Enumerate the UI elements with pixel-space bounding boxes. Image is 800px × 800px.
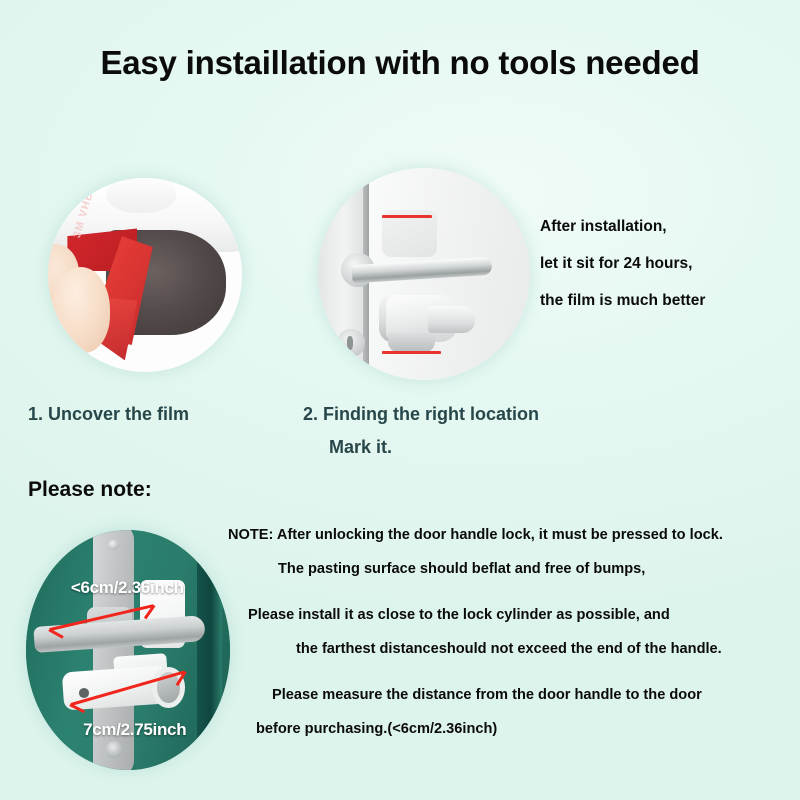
- step-caption-2-line-2: Mark it.: [303, 431, 539, 464]
- side-note-line-3: the film is much better: [540, 282, 790, 319]
- keyhole: [337, 329, 365, 357]
- notes-block: NOTE: After unlocking the door handle lo…: [228, 518, 800, 746]
- note-line-6: before purchasing.(<6cm/2.36inch): [228, 712, 800, 746]
- film-scene: 3M VHB: [48, 178, 242, 372]
- step-caption-1: 1. Uncover the film: [28, 398, 189, 431]
- please-note-heading: Please note:: [28, 478, 152, 502]
- note-line-3: Please install it as close to the lock c…: [228, 598, 800, 632]
- page-title: Easy instaillation with no tools needed: [0, 44, 800, 82]
- measure-label-top: <6cm/2.36inch: [71, 578, 184, 598]
- photo-uncover-film: 3M VHB: [48, 178, 242, 372]
- measure-scene: <6cm/2.36inch 7cm/2.75inch: [26, 530, 230, 770]
- photo-find-location: [318, 168, 530, 380]
- note-line-2: The pasting surface should beflat and fr…: [228, 552, 800, 586]
- infographic-page: Easy instaillation with no tools needed …: [0, 0, 800, 800]
- step-caption-2-line-1: 2. Finding the right location: [303, 404, 539, 424]
- lock-arm: [428, 306, 475, 334]
- product-nub: [106, 178, 176, 213]
- note-line-4: the farthest distanceshould not exceed t…: [228, 632, 800, 666]
- installation-side-note: After installation, let it sit for 24 ho…: [540, 208, 790, 319]
- side-note-line-2: let it sit for 24 hours,: [540, 245, 790, 282]
- red-marker-line-bottom: [382, 351, 441, 354]
- door-edge: [197, 530, 221, 770]
- plate-screw: [108, 540, 119, 551]
- thumb: [52, 267, 110, 352]
- photo-measurement-reference: <6cm/2.36inch 7cm/2.75inch: [26, 530, 230, 770]
- measure-label-bottom: 7cm/2.75inch: [83, 720, 186, 740]
- note-line-1: NOTE: After unlocking the door handle lo…: [228, 518, 800, 552]
- door-scene: [318, 168, 530, 380]
- red-marker-line-top: [382, 215, 433, 218]
- step-caption-2: 2. Finding the right location Mark it.: [303, 398, 539, 464]
- note-line-5: Please measure the distance from the doo…: [228, 678, 800, 712]
- side-note-line-1: After installation,: [540, 208, 790, 245]
- plate-keyhole: [106, 741, 122, 758]
- lock-foot: [388, 333, 435, 352]
